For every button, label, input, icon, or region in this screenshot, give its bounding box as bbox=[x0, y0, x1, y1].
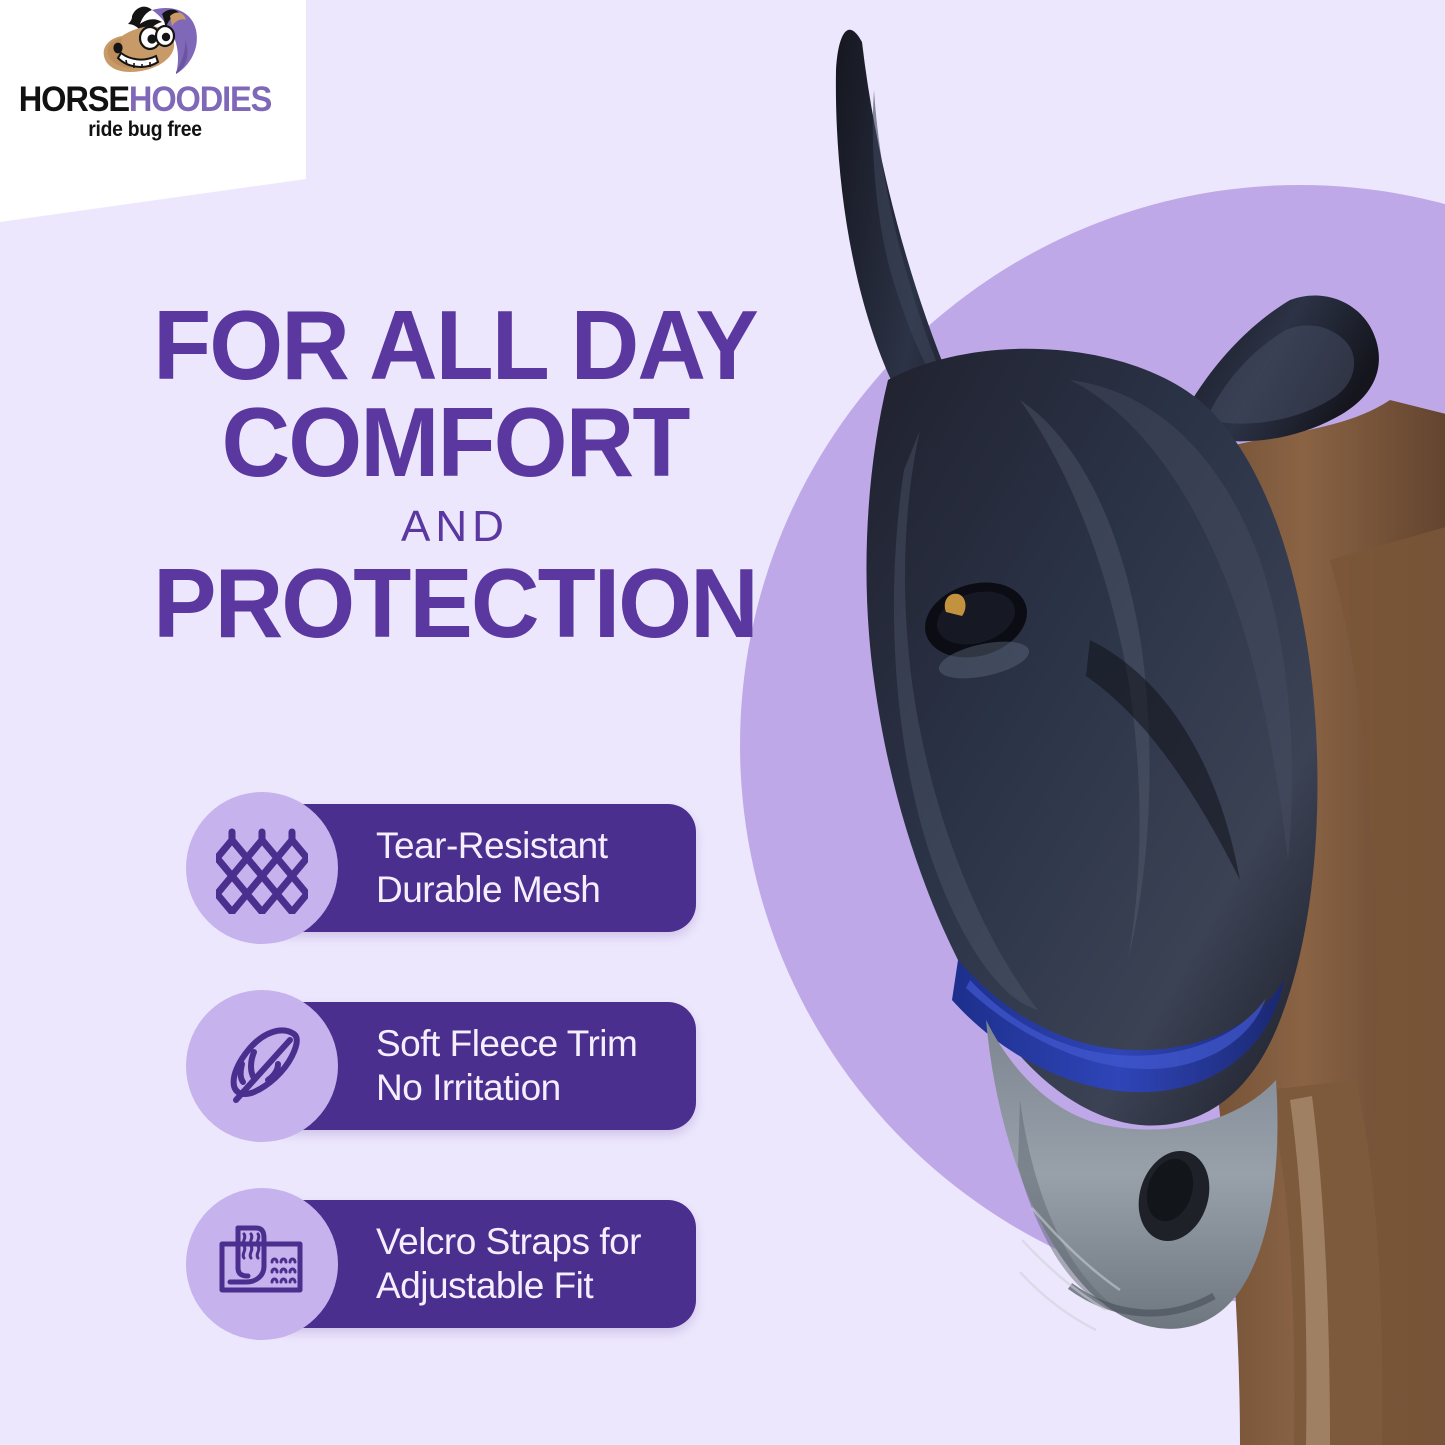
headline-block: FOR ALL DAY COMFORT AND PROTECTION bbox=[60, 300, 850, 649]
feather-icon bbox=[186, 990, 338, 1142]
velcro-strap-icon bbox=[186, 1188, 338, 1340]
feature-item-velcro: Velcro Straps for Adjustable Fit bbox=[186, 1188, 726, 1340]
ad-canvas: HORSEHOODIES ride bug free FOR ALL DAY C… bbox=[0, 0, 1445, 1445]
brand-wordmark: HORSEHOODIES bbox=[10, 82, 280, 117]
mesh-net-icon bbox=[186, 792, 338, 944]
brand-logo-badge[interactable]: HORSEHOODIES ride bug free bbox=[0, 0, 306, 224]
product-photo bbox=[770, 0, 1445, 1445]
feature-label-fleece: Soft Fleece Trim No Irritation bbox=[376, 1022, 637, 1109]
feature-list: Tear-Resistant Durable Mesh bbox=[186, 792, 726, 1386]
headline-line-2: COMFORT bbox=[72, 397, 838, 488]
brand-tagline: ride bug free bbox=[12, 118, 279, 142]
headline-line-3-and: AND bbox=[60, 502, 850, 552]
feature-label-mesh: Tear-Resistant Durable Mesh bbox=[376, 824, 608, 911]
headline-line-1: FOR ALL DAY bbox=[72, 300, 838, 391]
donkey-fly-mask-photo-illustration bbox=[770, 0, 1445, 1445]
horse-head-icon bbox=[92, 2, 210, 88]
headline-line-4: PROTECTION bbox=[72, 558, 838, 649]
brand-wordmark-part2: HOODIES bbox=[129, 80, 271, 119]
brand-wordmark-part1: HORSE bbox=[19, 80, 129, 119]
feature-item-mesh: Tear-Resistant Durable Mesh bbox=[186, 792, 726, 944]
feature-item-fleece: Soft Fleece Trim No Irritation bbox=[186, 990, 726, 1142]
feature-label-velcro: Velcro Straps for Adjustable Fit bbox=[376, 1220, 641, 1307]
